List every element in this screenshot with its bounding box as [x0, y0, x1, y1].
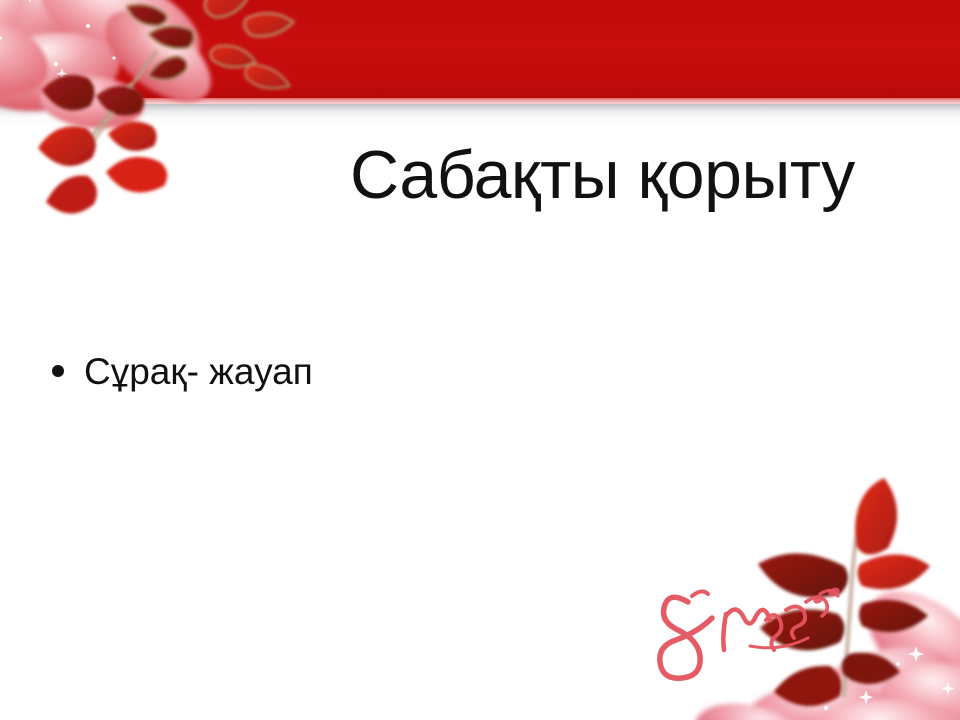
bullet-list-item: Сұрақ- жауап — [52, 352, 313, 393]
bottom-right-floral-decoration — [630, 450, 960, 720]
page-title: Сабақты қорыту — [350, 141, 910, 209]
banner-drop-shadow — [0, 104, 960, 126]
eight-march-script — [660, 590, 838, 678]
slide-canvas: Сабақты қорыту Сұрақ- жауап — [0, 0, 960, 720]
bullet-marker-icon — [52, 365, 64, 377]
bullet-item-text: Сұрақ- жауап — [84, 352, 313, 393]
top-red-banner — [0, 0, 960, 98]
